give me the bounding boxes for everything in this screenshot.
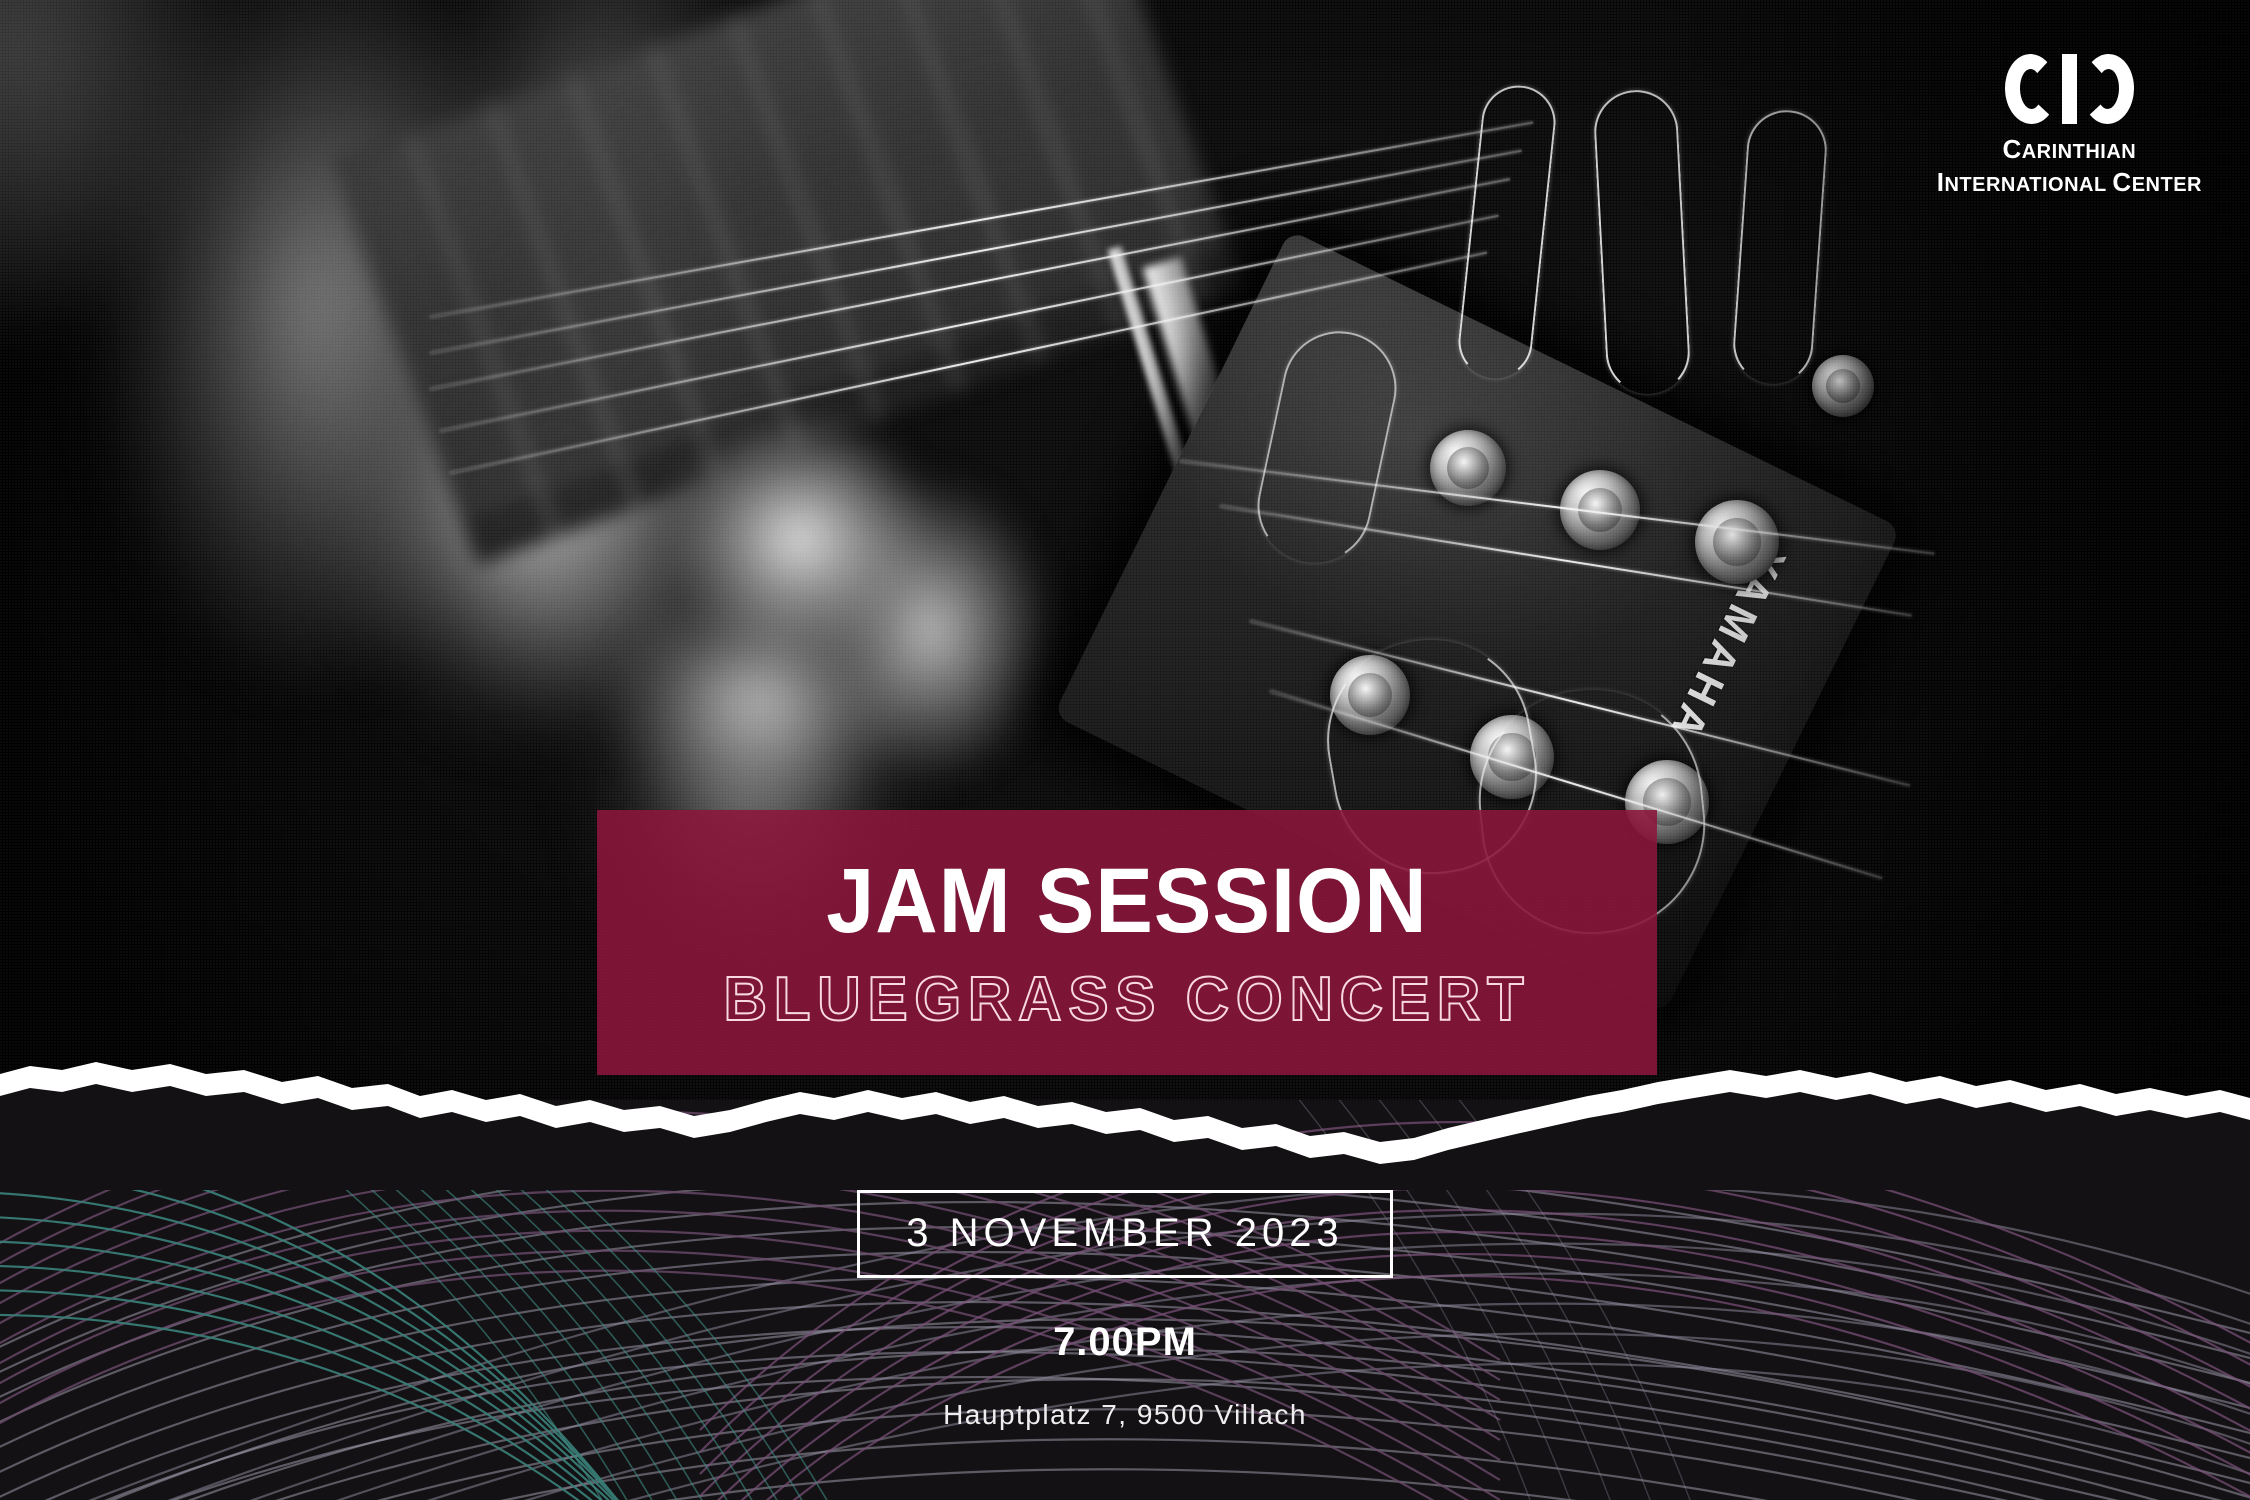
loose-string-curl [1455, 82, 1559, 382]
event-details: 3 NOVEMBER 2023 7.00PM Hauptplatz 7, 950… [0, 1190, 2250, 1431]
cic-logo: CARINTHIAN INTERNATIONAL CENTER [1937, 52, 2202, 198]
event-date: 3 NOVEMBER 2023 [906, 1213, 1343, 1253]
cic-monogram-icon [1937, 52, 2202, 126]
event-poster: YAMAHA [0, 0, 2250, 1500]
title-banner: JAM SESSION BLUEGRASS CONCERT [597, 810, 1657, 1075]
fretting-hand [600, 380, 1120, 800]
logo-i-bar [2062, 54, 2077, 124]
event-title: JAM SESSION [826, 855, 1427, 947]
logo-c-right [2081, 53, 2135, 125]
logo-c-left [2004, 53, 2058, 125]
logo-line-2: INTERNATIONAL CENTER [1937, 166, 2202, 199]
logo-line-1: CARINTHIAN [1937, 133, 2202, 166]
event-subtitle: BLUEGRASS CONCERT [723, 969, 1530, 1031]
tuning-peg [1812, 355, 1874, 417]
loose-string-curl [1592, 88, 1692, 396]
event-address: Hauptplatz 7, 9500 Villach [0, 1399, 2250, 1431]
loose-string-curl [1731, 108, 1830, 387]
event-time: 7.00PM [0, 1320, 2250, 1365]
tuning-peg [1695, 500, 1779, 584]
date-box: 3 NOVEMBER 2023 [857, 1190, 1392, 1278]
